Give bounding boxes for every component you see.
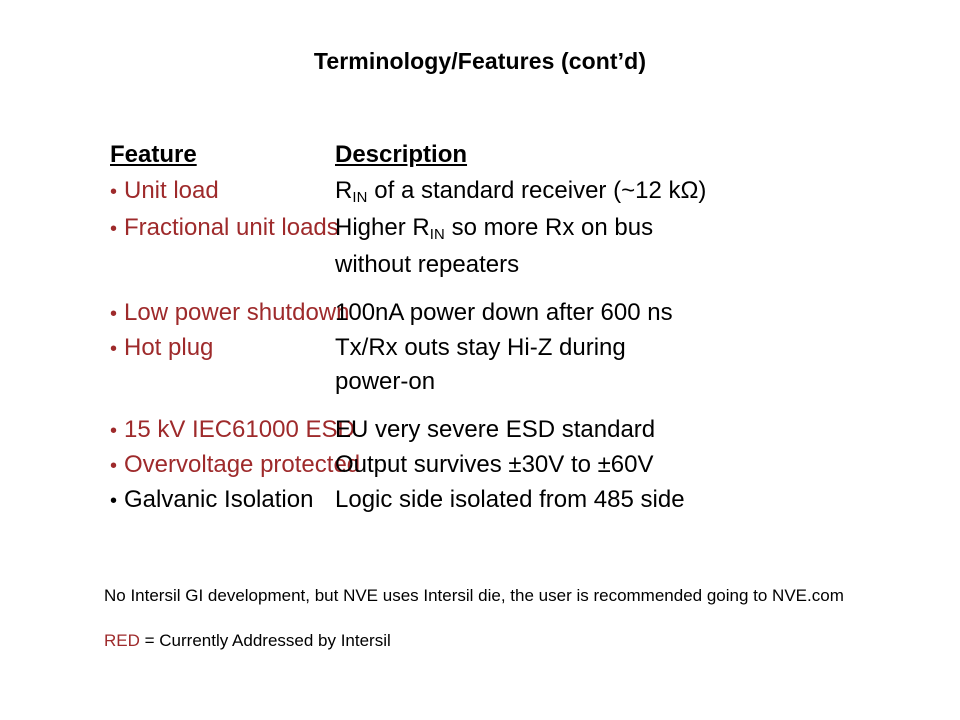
bullet-icon: • [110,449,124,483]
feature-cell: •Low power shutdown [0,296,335,331]
description-line: EU very severe ESD standard [335,413,960,447]
feature-item: •Unit load [110,174,335,209]
table-rows-host: •Unit loadRIN of a standard receiver (~1… [0,174,960,518]
feature-label: Low power shutdown [124,296,349,330]
feature-cell: •Galvanic Isolation [0,483,335,518]
description-cell: Tx/Rx outs stay Hi-Z duringpower-on [335,331,960,399]
table-row: •15 kV IEC61000 ESDEU very severe ESD st… [0,413,960,448]
feature-item: •Hot plug [110,331,335,366]
slide-root: Terminology/Features (cont’d) Feature De… [0,0,960,720]
description-cell: Logic side isolated from 485 side [335,483,960,517]
feature-item: •Low power shutdown [110,296,335,331]
feature-item: •15 kV IEC61000 ESD [110,413,335,448]
feature-label: Unit load [124,174,219,208]
description-text: 100nA power down after 600 ns [335,296,960,330]
description-cell: EU very severe ESD standard [335,413,960,447]
description-cell: 100nA power down after 600 ns [335,296,960,330]
header-cell-feature: Feature [0,140,335,170]
bullet-icon: • [110,175,124,209]
header-cell-description: Description [335,140,960,170]
description-text: Higher RIN so more Rx on buswithout repe… [335,211,960,282]
table-row: •Galvanic IsolationLogic side isolated f… [0,483,960,518]
footer-legend: RED = Currently Addressed by Intersil [104,629,894,652]
table-header-row: Feature Description [0,140,960,170]
description-text: Output survives ±30V to ±60V [335,448,960,482]
bullet-icon: • [110,297,124,331]
description-cell: Higher RIN so more Rx on buswithout repe… [335,211,960,282]
bullet-icon: • [110,414,124,448]
description-text: Logic side isolated from 485 side [335,483,960,517]
column-header-description: Description [335,140,467,170]
feature-item: •Fractional unit loads [110,211,335,246]
description-text: Tx/Rx outs stay Hi-Z duringpower-on [335,331,960,399]
feature-cell: •Hot plug [0,331,335,366]
description-line: 100nA power down after 600 ns [335,296,960,330]
bullet-icon: • [110,332,124,366]
table-row: •Overvoltage protectedOutput survives ±3… [0,448,960,483]
table-row: •Hot plugTx/Rx outs stay Hi-Z duringpowe… [0,331,960,399]
footer: No Intersil GI development, but NVE uses… [104,584,894,652]
feature-item: •Galvanic Isolation [110,483,335,518]
table-row: •Unit loadRIN of a standard receiver (~1… [0,174,960,211]
bullet-icon: • [110,212,124,246]
feature-label: Overvoltage protected [124,448,360,482]
description-line: without repeaters [335,248,960,282]
feature-label: Fractional unit loads [124,211,339,245]
feature-label: 15 kV IEC61000 ESD [124,413,355,447]
description-cell: Output survives ±30V to ±60V [335,448,960,482]
description-line: Higher RIN so more Rx on bus [335,211,960,248]
description-line: Tx/Rx outs stay Hi-Z during [335,331,960,365]
description-line: power-on [335,365,960,399]
footer-note: No Intersil GI development, but NVE uses… [104,584,894,607]
bullet-icon: • [110,484,124,518]
description-text: RIN of a standard receiver (~12 kΩ) [335,174,960,211]
table-row: •Fractional unit loadsHigher RIN so more… [0,211,960,282]
feature-cell: •Overvoltage protected [0,448,335,483]
description-line: Logic side isolated from 485 side [335,483,960,517]
legend-key-red: RED [104,631,140,650]
feature-cell: •Unit load [0,174,335,209]
feature-cell: •Fractional unit loads [0,211,335,246]
legend-description: = Currently Addressed by Intersil [140,631,391,650]
description-line: RIN of a standard receiver (~12 kΩ) [335,174,960,211]
table-row: •Low power shutdown100nA power down afte… [0,296,960,331]
description-cell: RIN of a standard receiver (~12 kΩ) [335,174,960,211]
description-line: Output survives ±30V to ±60V [335,448,960,482]
feature-item: •Overvoltage protected [110,448,335,483]
feature-label: Hot plug [124,331,213,365]
description-text: EU very severe ESD standard [335,413,960,447]
feature-cell: •15 kV IEC61000 ESD [0,413,335,448]
feature-label: Galvanic Isolation [124,483,313,517]
features-table: Feature Description •Unit loadRIN of a s… [0,140,960,518]
page-title: Terminology/Features (cont’d) [0,48,960,75]
column-header-feature: Feature [110,140,197,170]
